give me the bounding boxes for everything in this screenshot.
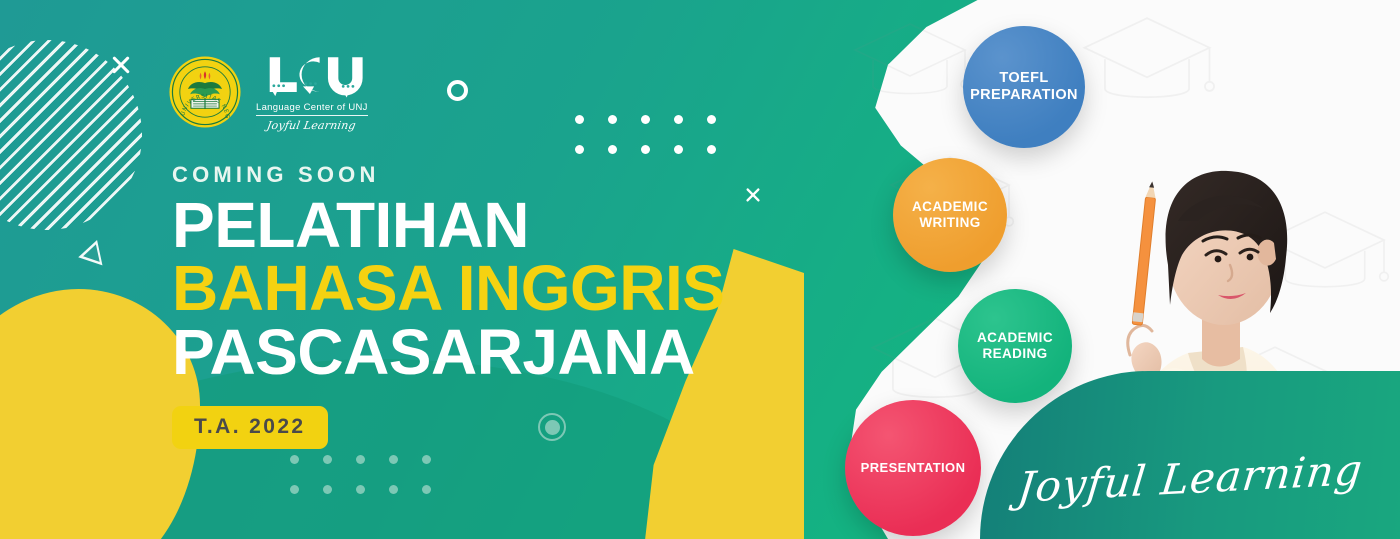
lcu-subtitle: Language Center of UNJ [256,102,368,116]
bubble-presentation[interactable]: PRESENTATION [845,400,981,536]
promotional-banner: UNIVERSITAS NEGERI JAKARTA [0,0,1400,539]
eyebrow-text: COMING SOON [172,162,724,188]
logo-lockup: UNIVERSITAS NEGERI JAKARTA [168,52,368,132]
dot-grid-decoration [575,115,716,154]
cross-decoration-icon [743,185,764,206]
headline-line-2: BAHASA INGGRIS [172,257,724,320]
yellow-blob-decoration [0,289,200,539]
unj-seal-icon: UNIVERSITAS NEGERI JAKARTA [168,55,242,129]
headline-line-1: PELATIHAN [172,194,724,257]
lcu-wordmark-icon [260,52,364,100]
academic-year-badge: T.A. 2022 [172,406,328,449]
lcu-script-tagline: Joyful Learning [266,119,357,132]
triangle-decoration-icon [76,240,103,270]
graduation-cap-watermark-icon [845,8,975,118]
cross-decoration-icon [108,52,134,78]
headline-line-3: PASCASARJANA [172,321,724,384]
headline-block: COMING SOON PELATIHAN BAHASA INGGRIS PAS… [172,162,724,449]
bubble-academic-writing[interactable]: ACADEMIC WRITING [893,158,1007,272]
ring-decoration-icon [447,80,468,101]
